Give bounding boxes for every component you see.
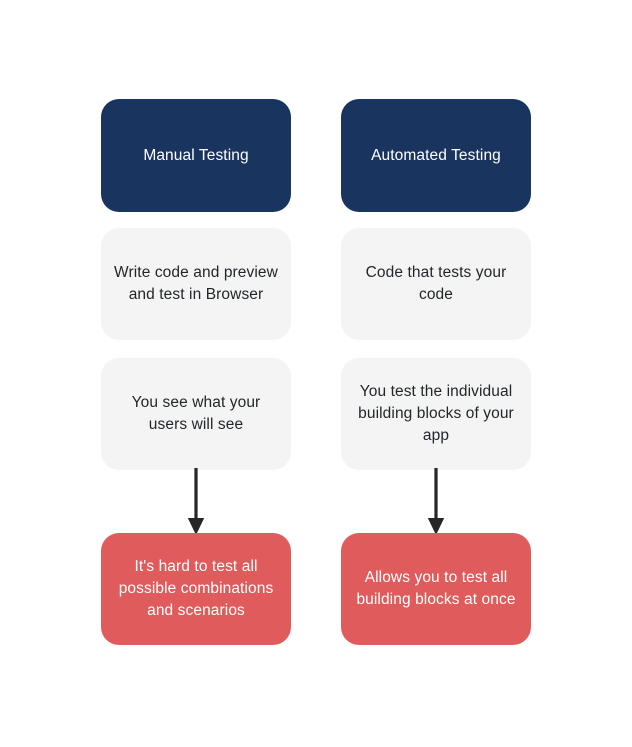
outcome-node-label: It's hard to test all possible combinati… — [113, 556, 279, 622]
down-arrow-icon-manual-testing — [186, 466, 206, 536]
outcome-node-manual-testing[interactable]: It's hard to test all possible combinati… — [101, 533, 291, 645]
header-node-label: Manual Testing — [113, 145, 279, 167]
column-automated-testing: Automated Testing Code that tests your c… — [341, 0, 531, 747]
outcome-node-automated-testing[interactable]: Allows you to test all building blocks a… — [341, 533, 531, 645]
detail-node-automated-testing-1[interactable]: Code that tests your code — [341, 228, 531, 340]
detail-node-automated-testing-2[interactable]: You test the individual building blocks … — [341, 358, 531, 470]
comparison-flowchart: Manual Testing Write code and preview an… — [0, 0, 632, 747]
header-node-manual-testing[interactable]: Manual Testing — [101, 99, 291, 212]
outcome-node-label: Allows you to test all building blocks a… — [353, 567, 519, 611]
header-node-automated-testing[interactable]: Automated Testing — [341, 99, 531, 212]
detail-node-label: Code that tests your code — [353, 262, 519, 306]
down-arrow-icon-automated-testing — [426, 466, 446, 536]
detail-node-label: You test the individual building blocks … — [353, 381, 519, 447]
detail-node-manual-testing-2[interactable]: You see what your users will see — [101, 358, 291, 470]
header-node-label: Automated Testing — [353, 145, 519, 167]
detail-node-label: Write code and preview and test in Brows… — [113, 262, 279, 306]
column-manual-testing: Manual Testing Write code and preview an… — [101, 0, 291, 747]
detail-node-manual-testing-1[interactable]: Write code and preview and test in Brows… — [101, 228, 291, 340]
detail-node-label: You see what your users will see — [113, 392, 279, 436]
